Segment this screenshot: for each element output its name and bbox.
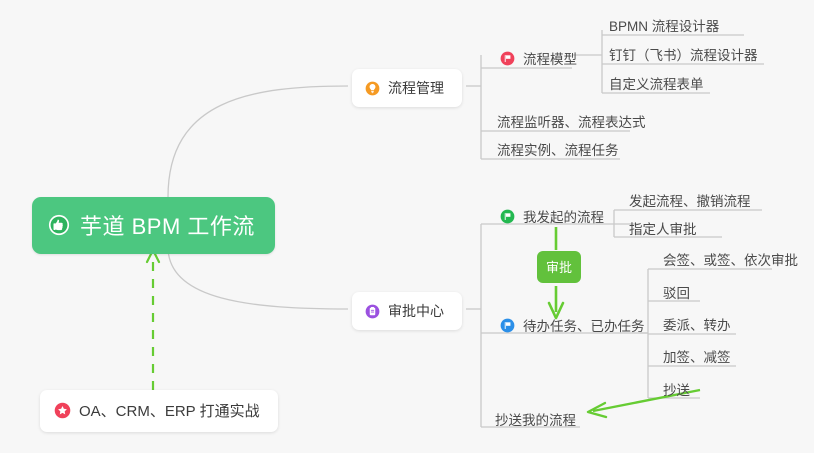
clipboard-icon: [365, 304, 380, 319]
node-bpmn-designer[interactable]: BPMN 流程设计器: [601, 11, 727, 40]
flag-icon: [500, 209, 515, 224]
node-reject[interactable]: 驳回: [655, 278, 698, 307]
node-label: 指定人审批: [629, 218, 697, 238]
node-dingtalk-feishu-designer[interactable]: 钉钉（飞书）流程设计器: [601, 40, 766, 69]
flow-badge-approval[interactable]: 审批: [537, 251, 581, 283]
node-label: 抄送: [663, 379, 690, 399]
node-label: 钉钉（飞书）流程设计器: [609, 44, 758, 64]
node-label: 驳回: [663, 282, 690, 302]
wire-root-to-process-management: [168, 86, 348, 197]
node-label: BPMN 流程设计器: [609, 15, 719, 35]
node-start-cancel-process[interactable]: 发起流程、撤销流程: [621, 186, 759, 215]
root-node[interactable]: 芋道 BPM 工作流: [32, 197, 275, 254]
thumbs-up-icon: [48, 214, 70, 236]
node-assignee-approval[interactable]: 指定人审批: [621, 214, 705, 243]
node-cc[interactable]: 抄送: [655, 375, 698, 404]
node-label: 自定义流程表单: [609, 73, 704, 93]
node-process-instance-task[interactable]: 流程实例、流程任务: [489, 135, 627, 164]
branch-label: 流程管理: [388, 78, 444, 98]
node-delegate-transfer[interactable]: 委派、转办: [655, 310, 739, 339]
node-my-initiated-process[interactable]: 我发起的流程: [492, 202, 612, 231]
wire-root-to-approval-center: [168, 247, 348, 309]
node-custom-process-form[interactable]: 自定义流程表单: [601, 69, 712, 98]
branch-approval-center[interactable]: 审批中心: [352, 292, 462, 330]
node-add-remove-sign[interactable]: 加签、减签: [655, 342, 739, 371]
node-label: 流程监听器、流程表达式: [497, 111, 646, 131]
node-cc-to-me-process[interactable]: 抄送我的流程: [487, 405, 584, 434]
node-todo-done-tasks[interactable]: 待办任务、已办任务: [492, 311, 653, 340]
mindmap-canvas: 芋道 BPM 工作流 OA、CRM、ERP 打通实战 流程管理: [0, 0, 814, 453]
lightbulb-icon: [365, 81, 380, 96]
bottom-note-label: OA、CRM、ERP 打通实战: [79, 400, 260, 421]
branch-label: 审批中心: [388, 301, 444, 321]
arrow-note-to-root: [147, 250, 159, 390]
flag-icon: [500, 51, 515, 66]
node-label: 加签、减签: [663, 346, 731, 366]
node-process-listener-expression[interactable]: 流程监听器、流程表达式: [489, 107, 654, 136]
node-label: 待办任务、已办任务: [523, 315, 645, 335]
branch-process-management[interactable]: 流程管理: [352, 69, 462, 107]
bottom-note-node[interactable]: OA、CRM、ERP 打通实战: [40, 390, 278, 432]
node-label: 我发起的流程: [523, 206, 604, 226]
root-label: 芋道 BPM 工作流: [80, 209, 255, 241]
node-label: 流程实例、流程任务: [497, 139, 619, 159]
node-label: 委派、转办: [663, 314, 731, 334]
node-process-model[interactable]: 流程模型: [492, 44, 585, 73]
flag-icon: [500, 318, 515, 333]
node-label: 发起流程、撤销流程: [629, 190, 751, 210]
node-label: 会签、或签、依次审批: [663, 249, 798, 269]
node-countersign[interactable]: 会签、或签、依次审批: [655, 245, 806, 274]
node-label: 抄送我的流程: [495, 409, 576, 429]
node-label: 流程模型: [523, 48, 577, 68]
flow-badge-label: 审批: [546, 257, 572, 276]
star-icon: [54, 402, 71, 419]
